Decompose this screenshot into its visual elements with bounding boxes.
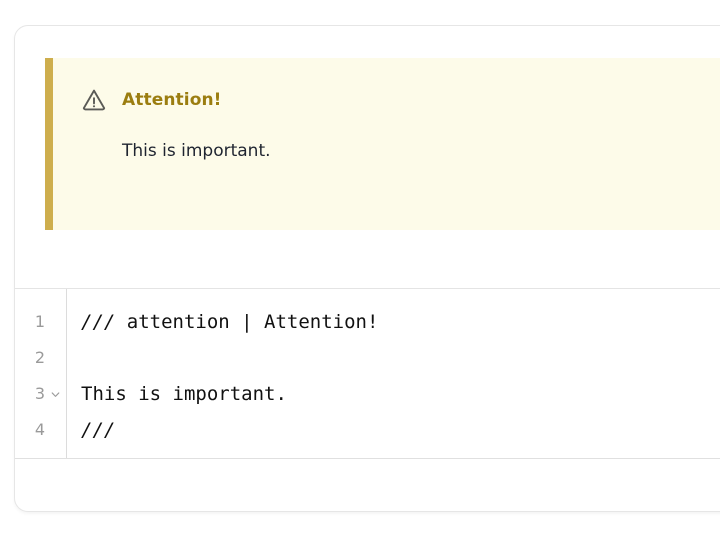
admonition-preview-pane: Attention! This is important.: [15, 26, 720, 289]
admonition-body: Attention! This is important.: [53, 58, 720, 230]
code-editor[interactable]: 1 2 3: [15, 289, 720, 459]
code-fence-token: ///: [81, 419, 115, 441]
code-line-text: This is important.: [81, 383, 287, 405]
line-number: 1: [35, 314, 45, 330]
line-number: 4: [35, 422, 45, 438]
code-line: [81, 340, 720, 376]
attention-admonition: Attention! This is important.: [45, 58, 720, 230]
gutter-row: 2: [15, 340, 66, 376]
code-line: This is important.: [81, 376, 720, 412]
gutter-row: 1: [15, 304, 66, 340]
chevron-down-icon[interactable]: [49, 389, 62, 400]
code-line: ///: [81, 412, 720, 448]
code-line: /// attention | Attention!: [81, 304, 720, 340]
admonition-body-text: This is important.: [122, 138, 720, 164]
admonition-accent-bar: [45, 58, 53, 230]
line-number-gutter: 1 2 3: [15, 289, 67, 458]
documentation-example-card: Attention! This is important. 1 2: [14, 25, 720, 512]
admonition-title-row: Attention!: [81, 87, 720, 113]
code-fence-token: ///: [81, 311, 115, 333]
code-line-text: attention | Attention!: [115, 311, 378, 333]
line-number: 2: [35, 350, 45, 366]
warning-triangle-icon: [81, 87, 107, 113]
admonition-title: Attention!: [122, 87, 222, 113]
gutter-row: 3: [15, 376, 66, 412]
code-text-area[interactable]: /// attention | Attention! This is impor…: [67, 289, 720, 458]
line-number: 3: [35, 386, 45, 402]
gutter-row: 4: [15, 412, 66, 448]
card-footer: [15, 460, 720, 511]
